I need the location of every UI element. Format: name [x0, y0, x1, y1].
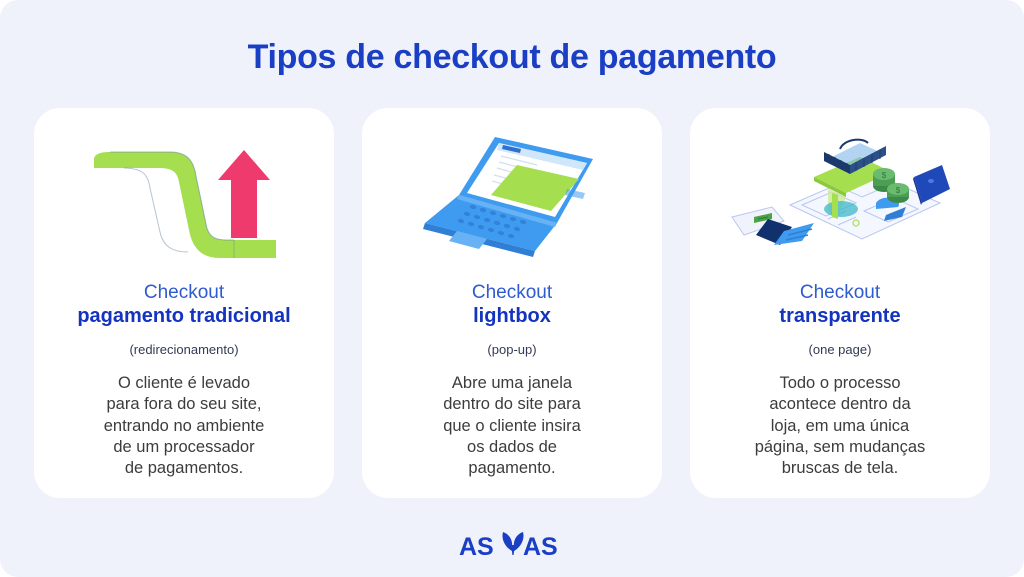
card-body-text: Todo o processo acontece dentro da loja,… — [755, 373, 926, 480]
card-heading-line2: lightbox — [472, 305, 552, 327]
card-heading-line1: Checkout — [472, 282, 552, 303]
card-heading-line2: transparente — [779, 305, 900, 327]
logo-text-right: AS — [523, 533, 558, 559]
card-heading-line1: Checkout — [77, 282, 290, 303]
asaas-logo: AS AS — [0, 525, 1024, 559]
card-heading: Checkout pagamento tradicional — [77, 282, 290, 328]
illustration-isometric-store-page: $ $ — [720, 130, 960, 260]
illustration-laptop-lightbox — [392, 130, 632, 260]
illustration-green-ribbon-arrow — [64, 130, 304, 260]
card-checkout-transparente: $ $ — [690, 108, 990, 498]
card-subtitle: (one page) — [809, 342, 872, 357]
wallet-with-money — [732, 207, 814, 245]
card-checkout-lightbox: Checkout lightbox (pop-up) Abre uma jane… — [362, 108, 662, 498]
butterfly-mark — [502, 532, 523, 555]
card-heading-line2: pagamento tradicional — [77, 305, 290, 327]
svg-text:$: $ — [881, 171, 886, 180]
card-body-text: O cliente é levado para fora do seu site… — [104, 373, 265, 480]
page-title: Tipos de checkout de pagamento — [0, 38, 1024, 77]
card-heading: Checkout lightbox — [472, 282, 552, 328]
card-subtitle: (pop-up) — [487, 342, 536, 357]
logo-text-left: AS — [459, 533, 494, 559]
card-checkout-tradicional: Checkout pagamento tradicional (redireci… — [34, 108, 334, 498]
pink-up-arrow — [218, 150, 270, 238]
card-body-text: Abre uma janela dentro do site para que … — [443, 373, 581, 480]
infographic-canvas: Tipos de checkout de pagamento — [0, 0, 1024, 577]
card-group: Checkout pagamento tradicional (redireci… — [34, 108, 990, 498]
card-heading: Checkout transparente — [779, 282, 900, 328]
card-heading-line1: Checkout — [779, 282, 900, 303]
svg-text:$: $ — [895, 186, 900, 195]
card-subtitle: (redirecionamento) — [129, 342, 238, 357]
